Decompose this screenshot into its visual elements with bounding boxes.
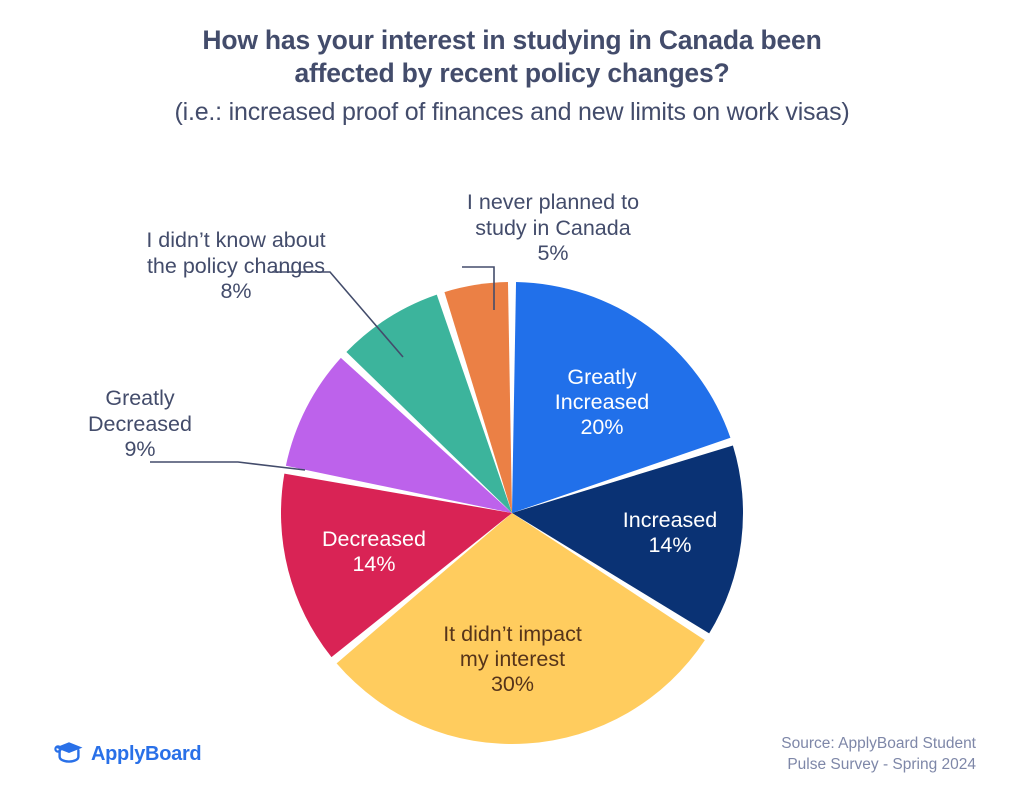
applyboard-logo-text: ApplyBoard [91, 743, 201, 766]
source-line-2: Pulse Survey - Spring 2024 [781, 754, 976, 775]
callout-percent: 9% [124, 437, 155, 461]
source-line-1: Source: ApplyBoard Student [781, 733, 976, 754]
chart-subtitle: (i.e.: increased proof of finances and n… [0, 94, 1024, 130]
callout-label-line2: the policy changes [147, 254, 325, 278]
graduation-cap-icon [54, 740, 84, 769]
callout-label-line1: I didn’t know about [146, 228, 325, 252]
callout-label-line2: Decreased [88, 412, 192, 436]
chart-title-line-2: affected by recent policy changes? [0, 57, 1024, 90]
title-block: How has your interest in studying in Can… [0, 24, 1024, 130]
callout-percent: 8% [220, 279, 251, 303]
callout-percent: 5% [537, 241, 568, 265]
applyboard-logo[interactable]: ApplyBoard [54, 740, 201, 769]
pie-slice-group [281, 282, 743, 744]
callout-label-line1: Greatly [105, 386, 174, 410]
source-note: Source: ApplyBoard Student Pulse Survey … [781, 733, 976, 775]
callout-label-line2: study in Canada [475, 216, 630, 240]
leader-line-greatly-decreased [150, 462, 305, 470]
callout-label-line1: I never planned to [467, 190, 639, 214]
pie-chart: Greatly Increased 20% Increased 14% It d… [0, 150, 1024, 760]
chart-title-line-1: How has your interest in studying in Can… [0, 24, 1024, 57]
callout-label-never-planned: I never planned to study in Canada 5% [438, 190, 668, 267]
graduation-cap-svg [54, 740, 84, 764]
callout-label-greatly-decreased: Greatly Decreased 9% [30, 386, 250, 463]
callout-label-didnt-know: I didn’t know about the policy changes 8… [106, 228, 366, 305]
chart-card: How has your interest in studying in Can… [0, 0, 1024, 802]
